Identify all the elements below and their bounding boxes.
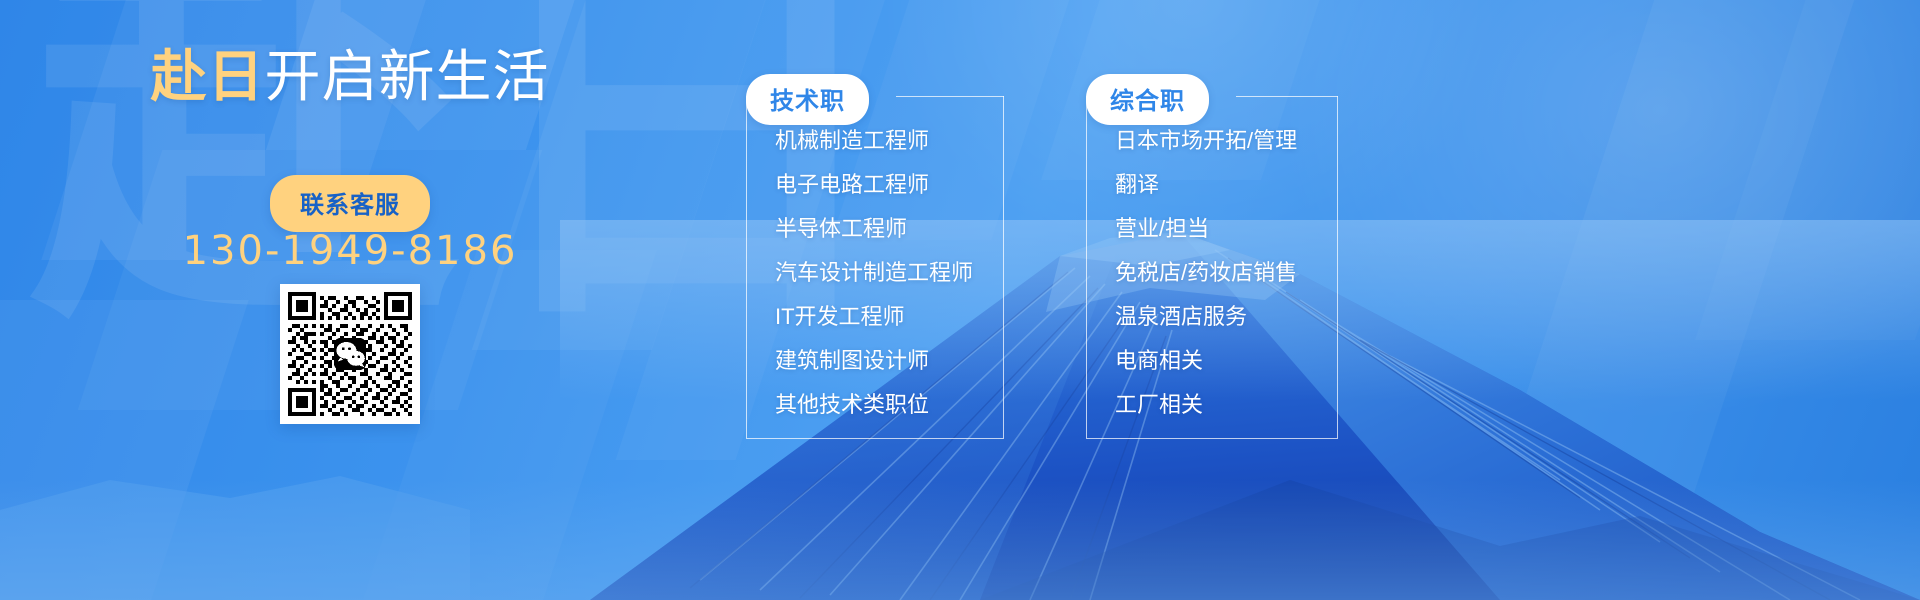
list-item[interactable]: 翻译 <box>1115 174 1309 196</box>
list-item[interactable]: 电子电路工程师 <box>775 174 975 196</box>
decor-slab <box>1695 0 1920 340</box>
panel-title-technical: 技术职 <box>746 74 869 125</box>
panel-frame-general: 日本市场开拓/管理 翻译 营业/担当 免税店/药妆店销售 温泉酒店服务 电商相关… <box>1086 96 1338 439</box>
panel-top-rule <box>896 96 1004 97</box>
page-title: 赴日开启新生活 <box>0 48 700 107</box>
qr-code-svg <box>288 292 412 416</box>
wechat-icon <box>334 338 366 370</box>
list-item[interactable]: 建筑制图设计师 <box>775 350 975 372</box>
job-list-general: 日本市场开拓/管理 翻译 营业/担当 免税店/药妆店销售 温泉酒店服务 电商相关… <box>1115 130 1309 416</box>
list-item[interactable]: 免税店/药妆店销售 <box>1115 262 1309 284</box>
recruitment-banner: 赴日 <box>0 0 1920 600</box>
phone-number: 130-1949-8186 <box>0 228 700 274</box>
list-item[interactable]: 营业/担当 <box>1115 218 1309 240</box>
list-item[interactable]: 日本市场开拓/管理 <box>1115 130 1309 152</box>
qr-code-icon[interactable] <box>280 284 420 424</box>
decor-slab <box>1446 0 1873 600</box>
list-item[interactable]: 温泉酒店服务 <box>1115 306 1309 328</box>
job-panel-general: 综合职 日本市场开拓/管理 翻译 营业/担当 免税店/药妆店销售 温泉酒店服务 … <box>1086 96 1338 439</box>
job-panel-technical: 技术职 机械制造工程师 电子电路工程师 半导体工程师 汽车设计制造工程师 IT开… <box>746 96 1004 439</box>
list-item[interactable]: 其他技术类职位 <box>775 394 975 416</box>
list-item[interactable]: 机械制造工程师 <box>775 130 975 152</box>
contact-support-button[interactable]: 联系客服 <box>270 175 430 232</box>
list-item[interactable]: 电商相关 <box>1115 350 1309 372</box>
list-item[interactable]: 汽车设计制造工程师 <box>775 262 975 284</box>
panel-frame-technical: 机械制造工程师 电子电路工程师 半导体工程师 汽车设计制造工程师 IT开发工程师… <box>746 96 1004 439</box>
panel-title-general: 综合职 <box>1086 74 1209 125</box>
background-glow <box>1280 0 1920 420</box>
list-item[interactable]: 半导体工程师 <box>775 218 975 240</box>
job-list-technical: 机械制造工程师 电子电路工程师 半导体工程师 汽车设计制造工程师 IT开发工程师… <box>775 130 975 416</box>
headline-accent: 赴日 <box>151 45 265 108</box>
panel-top-rule <box>1236 96 1338 97</box>
headline-plain: 开启新生活 <box>265 45 550 108</box>
list-item[interactable]: IT开发工程师 <box>775 306 975 328</box>
left-content-column: 赴日开启新生活 联系客服 130-1949-8186 <box>0 0 700 600</box>
list-item[interactable]: 工厂相关 <box>1115 394 1309 416</box>
